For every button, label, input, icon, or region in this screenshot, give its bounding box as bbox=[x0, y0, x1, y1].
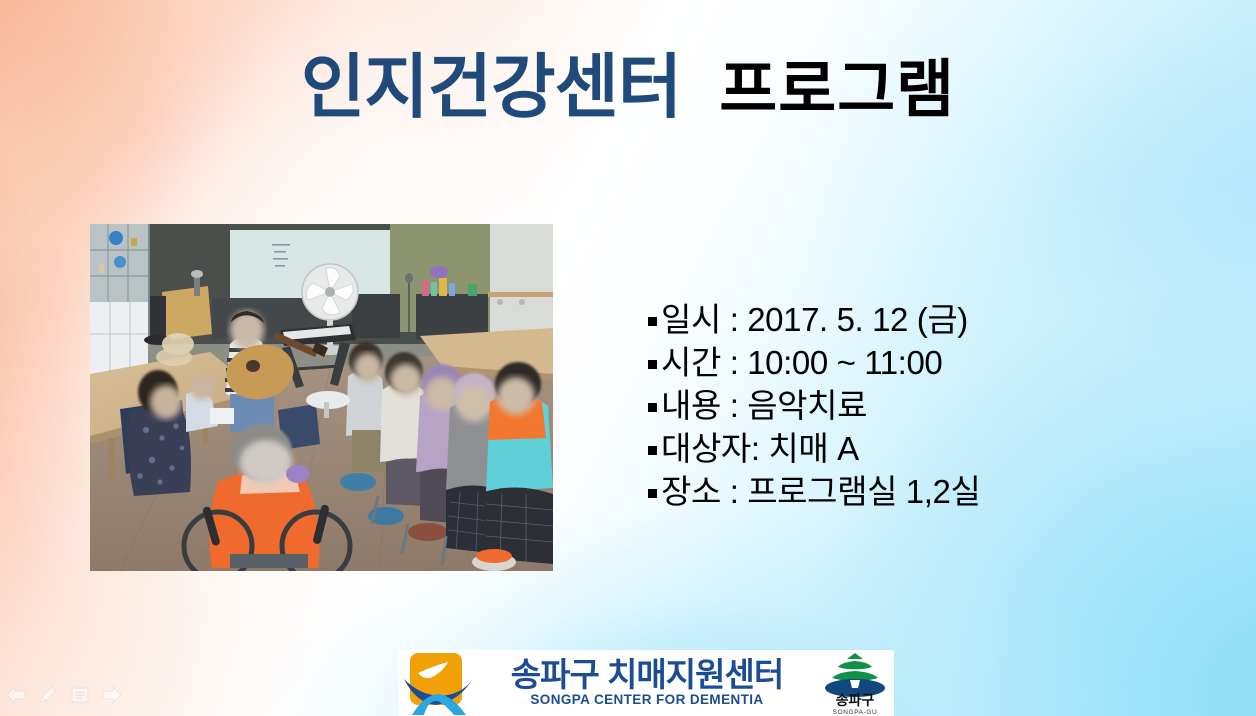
list-item: 장소 : 프로그램실 1,2실 bbox=[648, 465, 1208, 508]
bullet-marker-icon bbox=[648, 403, 657, 412]
title-primary: 인지건강센터 bbox=[301, 48, 681, 126]
slideshow-toolbar[interactable] bbox=[0, 680, 130, 710]
list-item: 일시 : 2017. 5. 12 (금) bbox=[648, 293, 1208, 336]
previous-slide-button[interactable] bbox=[0, 681, 32, 709]
district-english-label: SONGPA-GU bbox=[833, 709, 878, 716]
list-item: 대상자: 치매 A bbox=[648, 422, 1208, 465]
slide-title: 인지건강센터프로그램 bbox=[0, 52, 1256, 122]
logo-korean-name: 송파구 치매지원센터 bbox=[511, 658, 783, 693]
presentation-slide: 인지건강센터프로그램 bbox=[0, 0, 1256, 716]
organization-logo: 송파구 치매지원센터 SONGPA CENTER FOR DEMENTIA 송파… bbox=[398, 650, 894, 716]
logo-wordmark: 송파구 치매지원센터 SONGPA CENTER FOR DEMENTIA bbox=[478, 658, 816, 707]
detail-time: 시간 : 10:00 ~ 11:00 bbox=[661, 336, 942, 384]
songpa-gu-district-emblem-icon: 송파구 SONGPA-GU bbox=[816, 650, 894, 716]
detail-target: 대상자: 치매 A bbox=[661, 422, 859, 470]
pen-tool-button[interactable] bbox=[32, 681, 64, 709]
program-photo bbox=[90, 224, 553, 571]
left-arrow-icon bbox=[6, 686, 26, 704]
logo-english-name: SONGPA CENTER FOR DEMENTIA bbox=[530, 693, 763, 708]
detail-date: 일시 : 2017. 5. 12 (금) bbox=[661, 293, 968, 341]
next-slide-button[interactable] bbox=[96, 681, 128, 709]
bullet-marker-icon bbox=[648, 489, 657, 498]
detail-content: 내용 : 음악치료 bbox=[661, 379, 867, 427]
pen-icon bbox=[38, 686, 58, 704]
slide-menu-button[interactable] bbox=[64, 681, 96, 709]
title-secondary: 프로그램 bbox=[719, 55, 955, 125]
program-details-list: 일시 : 2017. 5. 12 (금) 시간 : 10:00 ~ 11:00 … bbox=[648, 293, 1208, 508]
notes-menu-icon bbox=[70, 686, 90, 704]
bullet-marker-icon bbox=[648, 317, 657, 326]
district-korean-label: 송파구 bbox=[836, 692, 875, 708]
right-arrow-icon bbox=[102, 686, 122, 704]
bullet-marker-icon bbox=[648, 446, 657, 455]
detail-location: 장소 : 프로그램실 1,2실 bbox=[661, 465, 980, 513]
bullet-marker-icon bbox=[648, 360, 657, 369]
list-item: 내용 : 음악치료 bbox=[648, 379, 1208, 422]
program-photo-illustration bbox=[90, 224, 553, 571]
list-item: 시간 : 10:00 ~ 11:00 bbox=[648, 336, 1208, 379]
songpa-dementia-center-emblem-icon bbox=[404, 651, 474, 715]
